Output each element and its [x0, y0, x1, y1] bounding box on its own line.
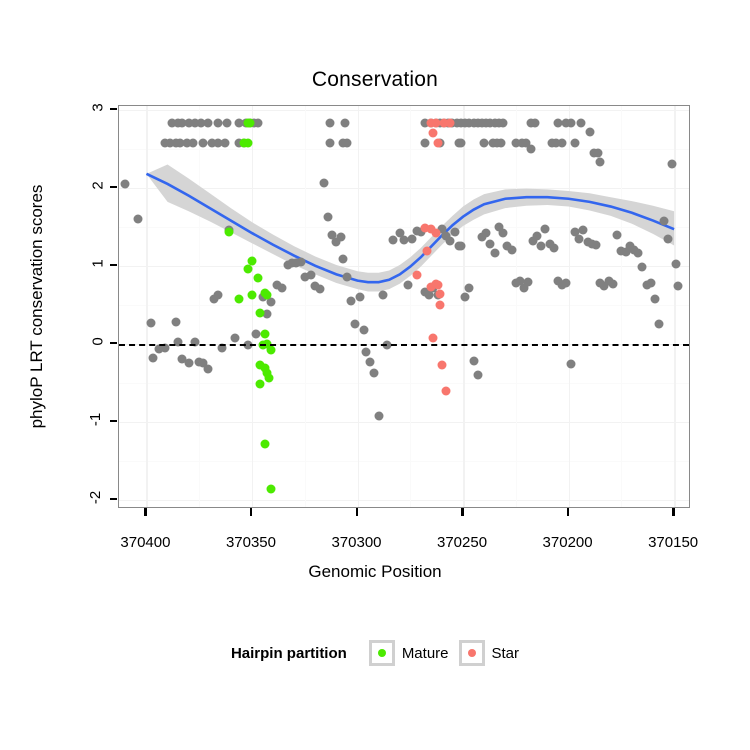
data-point-none — [450, 227, 459, 236]
data-point-none — [530, 119, 539, 128]
data-point-none — [254, 119, 263, 128]
data-point-none — [651, 294, 660, 303]
y-tick — [110, 420, 117, 423]
data-point-none — [404, 281, 413, 290]
data-point-none — [608, 279, 617, 288]
data-point-star — [446, 119, 455, 128]
data-point-none — [340, 119, 349, 128]
y-tick-label: 2 — [89, 181, 106, 189]
x-tick — [672, 508, 675, 516]
data-point-none — [558, 139, 567, 148]
data-point-none — [342, 139, 351, 148]
data-point-mature — [247, 291, 256, 300]
y-tick-label-wrap: -1 — [72, 411, 102, 428]
x-tick-label: 370150 — [618, 534, 728, 551]
data-point-none — [570, 139, 579, 148]
data-point-mature — [266, 484, 275, 493]
data-point-none — [638, 262, 647, 271]
data-point-star — [435, 289, 444, 298]
legend-label-star: Star — [492, 645, 520, 662]
data-point-none — [277, 283, 286, 292]
data-point-none — [579, 225, 588, 234]
data-point-mature — [245, 119, 254, 128]
data-point-none — [659, 217, 668, 226]
x-tick — [144, 508, 147, 516]
data-point-none — [421, 139, 430, 148]
y-tick — [110, 342, 117, 345]
y-tick — [110, 498, 117, 501]
legend-key-star — [459, 640, 485, 666]
y-tick-label-wrap: 2 — [72, 177, 102, 194]
data-point-none — [214, 291, 223, 300]
data-point-none — [465, 283, 474, 292]
data-point-none — [577, 119, 586, 128]
data-point-none — [338, 254, 347, 263]
data-point-none — [326, 139, 335, 148]
legend-title: Hairpin partition — [231, 645, 347, 662]
y-tick — [110, 108, 117, 111]
x-tick-label: 370350 — [196, 534, 306, 551]
data-point-none — [499, 229, 508, 238]
data-point-none — [469, 356, 478, 365]
data-point-mature — [256, 308, 265, 317]
data-point-none — [323, 212, 332, 221]
x-tick — [356, 508, 359, 516]
data-point-none — [307, 271, 316, 280]
x-tick-label: 370300 — [302, 534, 412, 551]
y-tick-label-wrap: 0 — [72, 333, 102, 350]
data-point-none — [566, 360, 575, 369]
y-tick — [110, 264, 117, 267]
data-point-none — [222, 119, 231, 128]
data-point-none — [378, 290, 387, 299]
data-point-none — [342, 272, 351, 281]
y-axis-title: phyloP LRT conservation scores — [22, 105, 52, 508]
mature-dot-icon — [378, 649, 386, 657]
data-point-none — [674, 282, 683, 291]
star-dot-icon — [468, 649, 476, 657]
conservation-scatter-chart: Conservation 3210-1-2 370400370350370300… — [0, 0, 750, 750]
data-point-none — [336, 232, 345, 241]
x-tick — [567, 508, 570, 516]
smoother-layer — [119, 106, 690, 508]
data-point-none — [461, 292, 470, 301]
data-point-none — [188, 139, 197, 148]
data-point-none — [374, 412, 383, 421]
data-point-none — [562, 278, 571, 287]
data-point-none — [203, 119, 212, 128]
data-point-none — [148, 353, 157, 362]
data-point-none — [486, 239, 495, 248]
data-point-mature — [256, 380, 265, 389]
data-point-none — [326, 119, 335, 128]
data-point-none — [634, 249, 643, 258]
data-point-none — [361, 348, 370, 357]
data-point-none — [663, 235, 672, 244]
data-point-none — [359, 325, 368, 334]
y-tick-label-wrap: -2 — [72, 489, 102, 506]
data-point-star — [433, 281, 442, 290]
y-tick-label: -1 — [87, 413, 104, 426]
data-point-none — [592, 240, 601, 249]
data-point-none — [408, 235, 417, 244]
y-tick-label: -2 — [87, 490, 104, 503]
data-point-none — [231, 333, 240, 342]
data-point-star — [431, 229, 440, 238]
data-point-none — [524, 278, 533, 287]
data-point-mature — [243, 264, 252, 273]
data-point-none — [507, 246, 516, 255]
data-point-none — [220, 139, 229, 148]
data-point-none — [146, 318, 155, 327]
y-tick — [110, 186, 117, 189]
data-point-none — [366, 358, 375, 367]
data-point-none — [171, 317, 180, 326]
x-tick-label: 370200 — [513, 534, 623, 551]
data-point-none — [672, 260, 681, 269]
data-point-mature — [235, 295, 244, 304]
data-point-mature — [264, 374, 273, 383]
y-tick-label: 1 — [89, 259, 106, 267]
data-point-star — [423, 246, 432, 255]
data-point-none — [355, 292, 364, 301]
data-point-star — [433, 139, 442, 148]
data-point-none — [526, 144, 535, 153]
chart-title: Conservation — [0, 68, 750, 92]
data-point-mature — [260, 329, 269, 338]
data-point-star — [442, 386, 451, 395]
data-point-none — [370, 369, 379, 378]
data-point-none — [549, 243, 558, 252]
zero-reference-line — [119, 344, 689, 346]
data-point-none — [482, 229, 491, 238]
x-tick-label: 370400 — [90, 534, 200, 551]
data-point-none — [473, 370, 482, 379]
data-point-star — [437, 360, 446, 369]
data-point-none — [121, 179, 130, 188]
y-tick-label-wrap: 1 — [72, 255, 102, 272]
y-tick-label: 0 — [89, 337, 106, 345]
data-point-mature — [266, 345, 275, 354]
data-point-none — [319, 179, 328, 188]
data-point-none — [668, 159, 677, 168]
data-point-star — [435, 300, 444, 309]
legend-key-mature — [369, 640, 395, 666]
data-point-mature — [262, 290, 271, 299]
data-point-mature — [224, 227, 233, 236]
data-point-none — [266, 298, 275, 307]
x-tick — [461, 508, 464, 516]
data-point-none — [134, 215, 143, 224]
data-point-none — [532, 232, 541, 241]
y-tick-label-wrap: 3 — [72, 99, 102, 116]
data-point-none — [613, 230, 622, 239]
data-point-mature — [243, 139, 252, 148]
data-point-none — [655, 320, 664, 329]
data-point-none — [203, 364, 212, 373]
data-point-none — [585, 127, 594, 136]
data-point-star — [412, 271, 421, 280]
x-tick — [250, 508, 253, 516]
plot-panel — [118, 105, 690, 508]
data-point-mature — [254, 274, 263, 283]
y-tick-label: 3 — [89, 103, 106, 111]
legend: Hairpin partition Mature Star — [0, 640, 750, 666]
legend-label-mature: Mature — [402, 645, 449, 662]
data-point-none — [184, 359, 193, 368]
data-point-none — [456, 241, 465, 250]
legend-item-mature[interactable]: Mature — [369, 640, 449, 666]
data-point-none — [594, 148, 603, 157]
data-point-none — [296, 257, 305, 266]
data-point-none — [490, 249, 499, 258]
legend-item-star[interactable]: Star — [459, 640, 520, 666]
data-point-star — [429, 128, 438, 137]
data-point-none — [315, 285, 324, 294]
data-point-none — [646, 278, 655, 287]
data-point-none — [456, 139, 465, 148]
data-point-none — [596, 158, 605, 167]
data-point-none — [566, 119, 575, 128]
data-point-mature — [260, 440, 269, 449]
x-axis-title: Genomic Position — [0, 562, 750, 582]
data-point-none — [541, 225, 550, 234]
data-point-none — [499, 119, 508, 128]
data-point-star — [429, 333, 438, 342]
data-point-none — [497, 139, 506, 148]
x-tick-label: 370250 — [407, 534, 517, 551]
